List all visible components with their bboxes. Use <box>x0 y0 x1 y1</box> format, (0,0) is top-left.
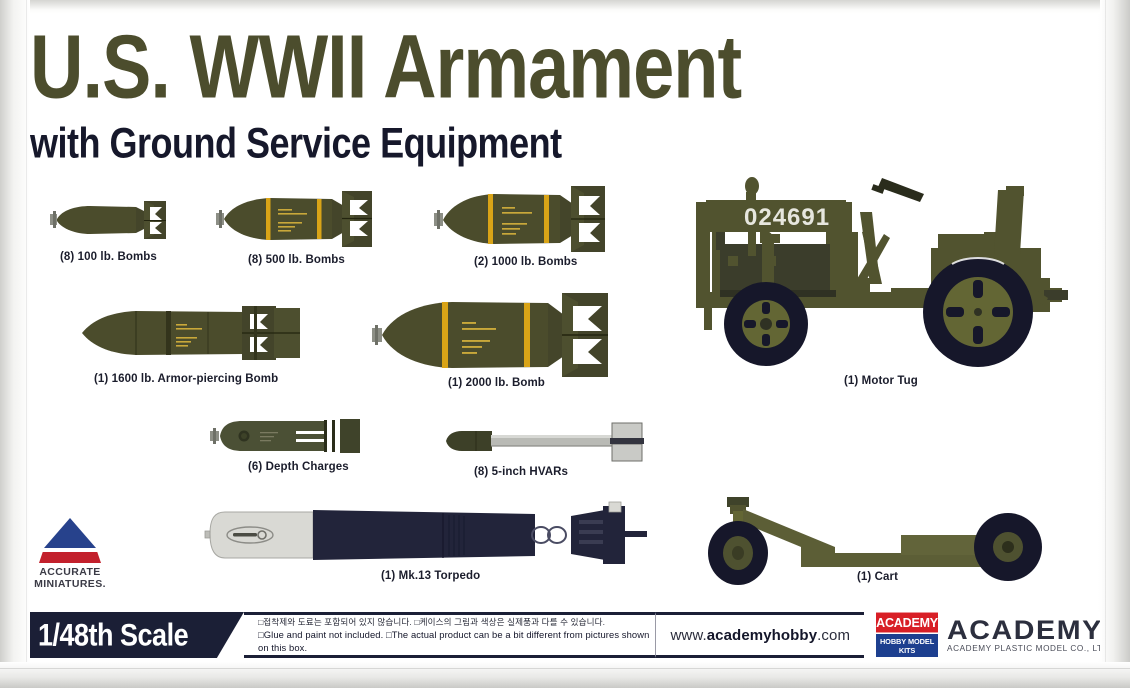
depth-charge-illustration <box>208 413 384 463</box>
bomb-1600ap-illustration <box>78 300 318 366</box>
website-main: academyhobby <box>707 627 817 644</box>
disclaimer-english: □Glue and paint not included. □The actua… <box>258 628 655 654</box>
hvar-illustration <box>444 420 654 466</box>
cart-illustration <box>705 495 1055 575</box>
motor-tug-serial-text: 024691 <box>744 204 830 231</box>
caption-bomb-1600ap: (1) 1600 lb. Armor-piercing Bomb <box>94 373 278 385</box>
bomb-100-illustration <box>42 193 182 249</box>
fold-line-left <box>26 0 27 688</box>
part-bomb-2000: (1) 2000 lb. Bomb <box>370 290 640 378</box>
website-box[interactable]: www.academyhobby.com <box>655 612 864 658</box>
scale-label: 1/48th Scale <box>38 617 188 653</box>
footer-bar: 1/48th Scale □접착제와 도료는 포함되어 있지 않습니다. □케이… <box>18 612 1112 658</box>
box-art-panel: U.S. WWII Armament with Ground Service E… <box>0 0 1130 688</box>
academy-company-line: ACADEMY PLASTIC MODEL CO., LTD. <box>947 644 1112 653</box>
academy-wordmark: ACADEMY <box>947 617 1122 643</box>
website-url[interactable]: www.academyhobby.com <box>670 627 850 644</box>
caption-depth-charge: (6) Depth Charges <box>248 461 349 473</box>
scale-banner: 1/48th Scale <box>18 612 244 658</box>
website-suffix: .com <box>817 627 850 644</box>
part-motor-tug: 024691 <box>676 172 1076 367</box>
academy-wordmark-block: ACADEMY ACADEMY PLASTIC MODEL CO., LTD. <box>947 617 1112 653</box>
accurate-miniatures-logo: ACCURATE MINIATURES. <box>18 518 122 590</box>
fold-line-right <box>1105 0 1106 688</box>
academy-badge-bottom: HOBBY MODEL KITS <box>876 634 938 657</box>
box-bottom-edge <box>0 662 1130 688</box>
part-cart: (1) Cart <box>705 495 1055 575</box>
caption-bomb-500: (8) 500 lb. Bombs <box>248 254 345 266</box>
caption-hvar: (8) 5-inch HVARs <box>474 466 568 478</box>
torpedo-illustration <box>205 500 665 572</box>
bomb-2000-illustration <box>370 290 640 378</box>
caption-cart: (1) Cart <box>857 571 898 583</box>
page-subtitle: with Ground Service Equipment <box>30 122 741 164</box>
caption-bomb-100: (8) 100 lb. Bombs <box>60 251 157 263</box>
bomb-500-illustration <box>214 186 384 252</box>
caption-bomb-2000: (1) 2000 lb. Bomb <box>448 377 545 389</box>
caption-torpedo: (1) Mk.13 Torpedo <box>381 570 480 582</box>
bomb-1000-illustration <box>432 183 622 255</box>
part-depth-charge: (6) Depth Charges <box>208 413 384 463</box>
disclaimer-block: □접착제와 도료는 포함되어 있지 않습니다. □케이스의 그림과 색상은 실제… <box>244 612 655 658</box>
motor-tug-illustration: 024691 <box>676 172 1076 367</box>
triangle-icon <box>44 518 96 548</box>
part-torpedo: (1) Mk.13 Torpedo <box>205 500 665 572</box>
disclaimer-korean: □접착제와 도료는 포함되어 있지 않습니다. □케이스의 그림과 색상은 실제… <box>258 616 655 628</box>
academy-brand-cluster: ACADEMY HOBBY MODEL KITS ACADEMY ACADEMY… <box>864 612 1112 658</box>
trapezoid-icon <box>39 552 101 563</box>
caption-bomb-1000: (2) 1000 lb. Bombs <box>474 256 577 268</box>
part-bomb-1600ap: (1) 1600 lb. Armor-piercing Bomb <box>78 300 318 366</box>
accurate-miniatures-line1: ACCURATE <box>18 566 122 578</box>
box-top-edge <box>0 0 1130 14</box>
part-bomb-100: (8) 100 lb. Bombs <box>42 193 182 249</box>
part-hvar: (8) 5-inch HVARs <box>444 420 654 466</box>
website-prefix: www. <box>670 627 706 644</box>
caption-motor-tug: (1) Motor Tug <box>844 375 918 387</box>
title-block: U.S. WWII Armament with Ground Service E… <box>30 22 741 158</box>
part-bomb-500: (8) 500 lb. Bombs <box>214 186 384 252</box>
page-title: U.S. WWII Armament <box>30 22 741 112</box>
accurate-miniatures-line2: MINIATURES. <box>18 578 122 590</box>
academy-badge-top: ACADEMY <box>876 613 938 633</box>
part-bomb-1000: (2) 1000 lb. Bombs <box>432 183 622 255</box>
academy-badge: ACADEMY HOBBY MODEL KITS <box>876 613 938 657</box>
